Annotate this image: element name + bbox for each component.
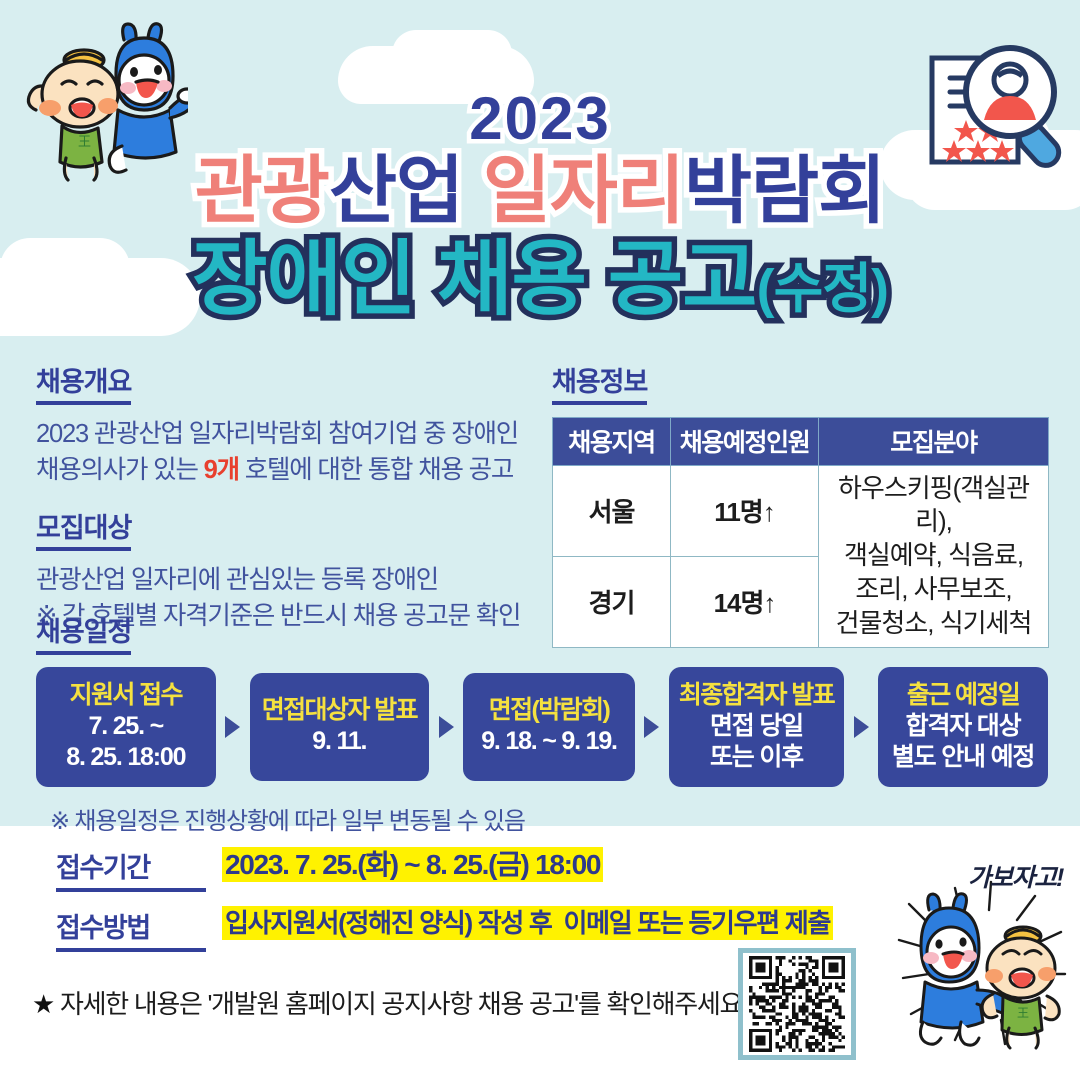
title-part-sanup: 산업	[329, 149, 463, 232]
overview-line-1: 2023 관광산업 일자리박람회 참여기업 중 장애인	[36, 416, 536, 452]
schedule-step-line1: 합격자 대상	[888, 711, 1038, 742]
overview-line2-pre: 채용의사가 있는	[36, 456, 204, 484]
svg-text:王: 王	[1017, 1006, 1029, 1020]
arrow-right-icon	[429, 716, 463, 738]
target-line-1: 관광산업 일자리에 관심있는 등록 장애인	[36, 562, 536, 598]
schedule-step-title: 면접(박람회)	[473, 695, 625, 726]
value-application-method: 입사지원서(정해진 양식) 작성 후 이메일 또는 등기우편 제출	[222, 906, 833, 941]
title-main-subject: 장애인 채용 공고	[192, 234, 757, 325]
svg-text:王: 王	[78, 134, 91, 149]
column-header-headcount: 채용예정인원	[671, 417, 819, 465]
right-content-column: 채용정보 채용지역 채용예정인원 모집분야 서울 11명↑ 하우스키핑(객실관리…	[552, 368, 1048, 648]
cloud-decoration	[392, 30, 512, 78]
star-icon: ★	[32, 989, 54, 1019]
arrow-right-icon	[844, 716, 878, 738]
schedule-step-title: 면접대상자 발표	[260, 695, 420, 726]
qr-code[interactable]	[738, 948, 856, 1060]
arrow-right-icon	[635, 716, 669, 738]
schedule-step-start-date: 출근 예정일 합격자 대상 별도 안내 예정	[878, 667, 1048, 788]
table-row: 서울 11명↑ 하우스키핑(객실관리),객실예약, 식음료,조리, 사무보조,건…	[553, 465, 1049, 556]
schedule-step-line1: 9. 18. ~ 9. 19.	[473, 726, 625, 757]
schedule-step-interview-announcement: 면접대상자 발표 9. 11.	[250, 673, 430, 781]
title-part-iljari: 일자리	[463, 149, 684, 232]
overview-body: 2023 관광산업 일자리박람회 참여기업 중 장애인 채용의사가 있는 9개 …	[36, 416, 536, 488]
application-period-row: 접수기간 2023. 7. 25.(화) ~ 8. 25.(금) 18:00	[56, 846, 956, 892]
schedule-section: 채용일정 지원서 접수 7. 25. ~ 8. 25. 18:00 면접대상자 …	[36, 618, 1048, 836]
schedule-step-line2: 8. 25. 18:00	[46, 742, 206, 773]
schedule-step-title: 출근 예정일	[888, 680, 1038, 711]
value-application-period: 2023. 7. 25.(화) ~ 8. 25.(금) 18:00	[222, 846, 603, 883]
job-info-table: 채용지역 채용예정인원 모집분야 서울 11명↑ 하우스키핑(객실관리),객실예…	[552, 417, 1049, 648]
footer-note: ★ 자세한 내용은 '개발원 홈페이지 공지사항 채용 공고'를 확인해주세요!	[32, 984, 748, 1021]
application-method-row: 접수방법 입사지원서(정해진 양식) 작성 후 이메일 또는 등기우편 제출	[56, 906, 956, 952]
section-heading-job-info: 채용정보	[552, 368, 647, 405]
cell-count-seoul: 11명↑	[671, 465, 819, 556]
poster-canvas: 王	[0, 0, 1080, 1080]
overview-line2-post: 호텔에 대한 통합 채용 공고	[239, 456, 513, 484]
section-heading-target: 모집대상	[36, 514, 131, 551]
schedule-step-line1: 9. 11.	[260, 726, 420, 757]
column-header-fields: 모집분야	[819, 417, 1049, 465]
resume-magnifier-icon	[918, 44, 1068, 189]
schedule-step-final-result: 최종합격자 발표 면접 당일 또는 이후	[669, 667, 844, 788]
mascot-pair-top-left: 王	[18, 22, 188, 192]
application-method-submit: 이메일 또는 등기우편 제출	[560, 906, 833, 940]
footer-note-text: 자세한 내용은 '개발원 홈페이지 공지사항 채용 공고'를 확인해주세요!	[60, 989, 748, 1019]
application-period-value: 2023. 7. 25.(화) ~ 8. 25.(금) 18:00	[222, 847, 603, 882]
schedule-step-line2: 별도 안내 예정	[888, 742, 1038, 773]
overview-line-2: 채용의사가 있는 9개 호텔에 대한 통합 채용 공고	[36, 452, 536, 488]
schedule-step-line2: 또는 이후	[679, 742, 834, 773]
application-method-form: 입사지원서(정해진 양식) 작성 후	[222, 906, 560, 940]
schedule-note: ※ 채용일정은 진행상황에 따라 일부 변동될 수 있음	[36, 801, 1048, 836]
left-content-column: 채용개요 2023 관광산업 일자리박람회 참여기업 중 장애인 채용의사가 있…	[36, 368, 536, 634]
schedule-step-line1: 면접 당일	[679, 711, 834, 742]
section-heading-overview: 채용개요	[36, 368, 131, 405]
table-header-row: 채용지역 채용예정인원 모집분야	[553, 417, 1049, 465]
schedule-step-title: 지원서 접수	[46, 680, 206, 711]
overview-hotel-count: 9개	[204, 456, 239, 484]
schedule-timeline: 지원서 접수 7. 25. ~ 8. 25. 18:00 면접대상자 발표 9.…	[36, 667, 1048, 788]
title-revision-tag: (수정)	[757, 259, 888, 319]
label-application-period: 접수기간	[56, 846, 206, 892]
title-line-2: 장애인 채용 공고(수정)	[0, 235, 1080, 325]
label-application-method: 접수방법	[56, 906, 206, 952]
column-header-region: 채용지역	[553, 417, 671, 465]
schedule-step-title: 최종합격자 발표	[679, 680, 834, 711]
title-part-bangnamhoe: 박람회	[684, 149, 885, 232]
cell-region-seoul: 서울	[553, 465, 671, 556]
schedule-step-line1: 7. 25. ~	[46, 711, 206, 742]
schedule-step-application: 지원서 접수 7. 25. ~ 8. 25. 18:00	[36, 667, 216, 788]
section-heading-schedule: 채용일정	[36, 618, 131, 655]
arrow-right-icon	[216, 716, 250, 738]
schedule-step-interview: 면접(박람회) 9. 18. ~ 9. 19.	[463, 673, 635, 781]
title-part-gwangwang: 관광	[195, 149, 329, 232]
mascot-speech-text: 가보자고!	[968, 858, 1063, 894]
